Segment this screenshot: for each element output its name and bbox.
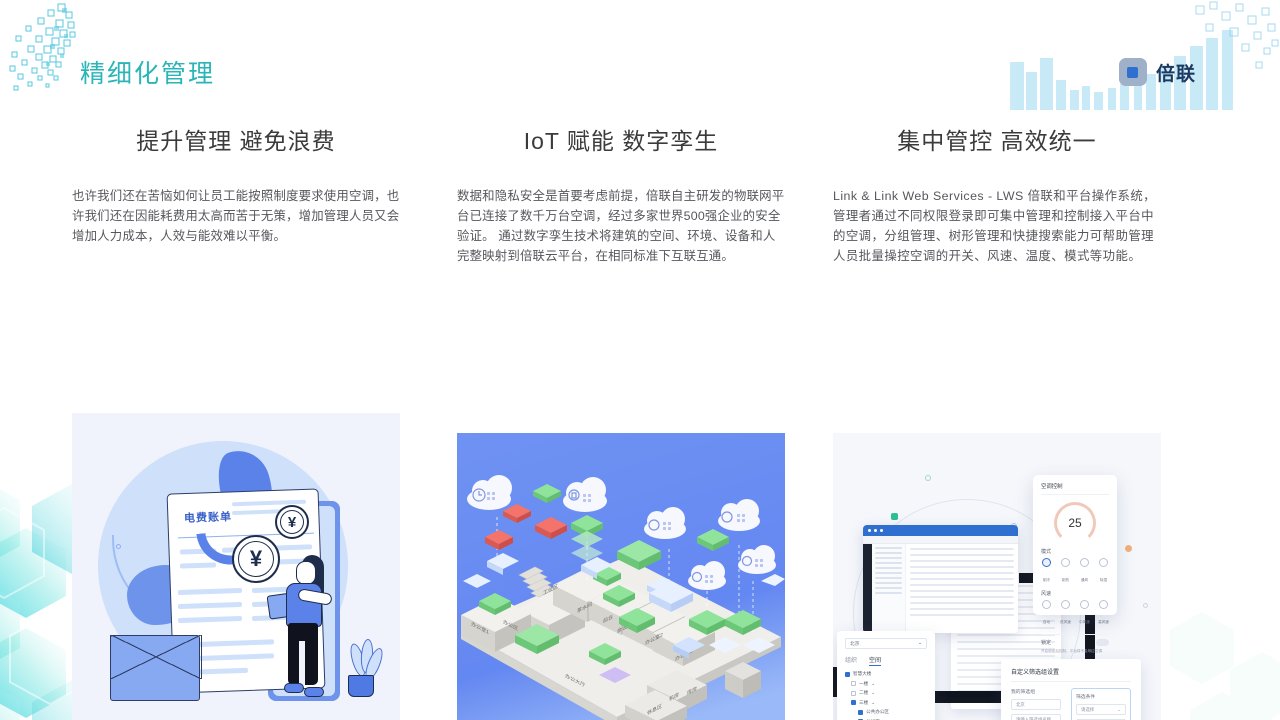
fan-option-medium[interactable]: 中风速: [1079, 600, 1090, 628]
mode-option-cool[interactable]: 制冷: [1041, 558, 1052, 586]
checkbox[interactable]: [851, 700, 856, 705]
lws-browser-window: [863, 525, 1018, 633]
mode-option-heat[interactable]: 制热: [1060, 558, 1071, 586]
lock-toggle[interactable]: [1096, 639, 1109, 646]
browser-titlebar: [863, 525, 1018, 536]
coin-large: ¥: [232, 535, 280, 583]
tab-space[interactable]: 空间: [869, 655, 881, 666]
person-shoe: [304, 687, 324, 697]
filter-group-name-input[interactable]: 请输入筛选组名称: [1011, 714, 1061, 720]
ac-control-title: 空调控制: [1041, 482, 1109, 495]
lws-dashboard-illustration: 空调控制 25 模式 制冷 制热 通风 除湿 风速 自动 低风速 中风速 高风速: [833, 433, 1161, 720]
electricity-bill-illustration: 电费账单 ¥ ¥: [72, 413, 400, 720]
column-centralized-control: 集中管控 高效统一 Link & Link Web Services - LWS…: [833, 110, 1161, 592]
lock-tip: 开启锁定后控制，平台将不会响应空调: [1041, 649, 1109, 654]
lock-label: 锁定: [1041, 639, 1051, 646]
mode-options: 制冷 制热 通风 除湿: [1041, 558, 1109, 586]
filter-left-column: 我的筛选组 北京 请输入筛选组名称 添加 +: [1011, 688, 1061, 720]
mode-section-label: 模式: [1041, 548, 1109, 555]
chevron-down-icon: ⌄: [918, 641, 922, 646]
isometric-digital-twin-illustration: 办公室1 办公区 工位区 茶水间 前台 会议室 办公室2 办公室3 办公大厅 机…: [457, 433, 785, 720]
mode-option-fan[interactable]: 通风: [1079, 558, 1090, 586]
decorative-dot: [925, 475, 931, 481]
brand-name: 倍联: [1156, 59, 1196, 86]
temperature-value: 25: [1068, 516, 1081, 530]
tree-node[interactable]: 二楼⌄: [845, 690, 927, 696]
page-title: 精细化管理: [80, 54, 215, 90]
column-improve-management: 提升管理 避免浪费 也许我们还在苦恼如何让员工能按照制度要求使用空调，也许我们还…: [72, 110, 400, 572]
device-table-pane[interactable]: [906, 544, 1018, 633]
custom-filter-panel[interactable]: 自定义筛选组设置 我的筛选组 北京 请输入筛选组名称 添加 + 筛选条件 请选择…: [1001, 659, 1141, 720]
column-heading: 提升管理 避免浪费: [72, 122, 400, 156]
browser-address-bar[interactable]: [863, 536, 1018, 544]
region-select[interactable]: 北京 ⌄: [845, 638, 927, 649]
sun-icon: [1061, 558, 1070, 567]
auto-icon: [1042, 600, 1051, 609]
rounded-square-logo-icon: [1119, 58, 1147, 86]
filter-panel-title: 自定义筛选组设置: [1011, 667, 1131, 682]
ac-control-card[interactable]: 空调控制 25 模式 制冷 制热 通风 除湿 风速 自动 低风速 中风速 高风速: [1033, 475, 1117, 615]
column-heading: 集中管控 高效统一: [833, 122, 1161, 156]
high-fan-icon: [1099, 600, 1108, 609]
chevron-down-icon: ⌄: [871, 690, 875, 696]
fan-icon: [1080, 558, 1089, 567]
mode-option-dry[interactable]: 除湿: [1098, 558, 1109, 586]
fan-section-label: 风速: [1041, 590, 1109, 597]
browser-content: [863, 544, 1018, 633]
app-sidebar[interactable]: [863, 544, 872, 633]
filter-condition-select-1[interactable]: 请选择⌄: [1076, 704, 1126, 715]
checkbox[interactable]: [845, 672, 850, 677]
space-tree-pane[interactable]: [872, 544, 906, 633]
chevron-down-icon: ⌄: [871, 681, 875, 687]
chevron-down-icon: ⌄: [1117, 707, 1121, 713]
decorative-dot: [891, 513, 898, 520]
bill-title: 电费账单: [184, 508, 233, 526]
envelope-icon: [110, 635, 200, 701]
fan-option-high[interactable]: 高风速: [1098, 600, 1109, 628]
filter-left-heading: 我的筛选组: [1011, 688, 1061, 695]
chevron-down-icon: ⌄: [871, 700, 875, 706]
isometric-building-scene: 办公室1 办公区 工位区 茶水间 前台 会议室 办公室2 办公室3 办公大厅 机…: [457, 433, 785, 720]
temperature-gauge[interactable]: 25: [1054, 502, 1096, 544]
tree-node[interactable]: 公共办公区: [845, 709, 927, 715]
fan-option-low[interactable]: 低风速: [1060, 600, 1071, 628]
tree-node[interactable]: 智慧大楼: [845, 671, 927, 677]
tree-node[interactable]: 一楼⌄: [845, 681, 927, 687]
filter-right-heading: 筛选条件: [1076, 693, 1126, 700]
person-legs: [288, 623, 318, 685]
tab-organization[interactable]: 组织: [845, 655, 857, 666]
lock-row: 锁定: [1041, 634, 1109, 646]
page-header: 精细化管理 倍联: [0, 0, 1280, 110]
column-iot-digital-twin: IoT 赋能 数字孪生 数据和隐私安全是首要考虑前提，倍联自主研发的物联网平台已…: [457, 110, 785, 592]
column-body-text: Link & Link Web Services - LWS 倍联和平台操作系统…: [833, 186, 1161, 266]
column-body-text: 也许我们还在苦恼如何让员工能按照制度要求使用空调，也许我们还在因能耗费用太高而苦…: [72, 186, 400, 246]
space-selector-panel[interactable]: 北京 ⌄ 组织 空间 智慧大楼 一楼⌄ 二楼⌄ 三楼⌄ 公共办公区 总经室 会议…: [837, 631, 935, 720]
filter-right-column: 筛选条件 请选择⌄ 请选择⌄ 参数值 添加 +: [1071, 688, 1131, 720]
column-heading: IoT 赋能 数字孪生: [457, 122, 785, 156]
filter-columns: 我的筛选组 北京 请输入筛选组名称 添加 + 筛选条件 请选择⌄ 请选择⌄ 参数…: [1011, 688, 1131, 720]
medium-fan-icon: [1080, 600, 1089, 609]
decorative-dot: [1143, 603, 1148, 608]
checkbox[interactable]: [858, 710, 863, 715]
fan-options: 自动 低风速 中风速 高风速: [1041, 600, 1109, 628]
person-head: [296, 561, 316, 585]
person-shoe: [284, 683, 304, 693]
checkbox[interactable]: [851, 681, 856, 686]
fan-option-auto[interactable]: 自动: [1041, 600, 1052, 628]
plant-pot: [348, 675, 374, 697]
drop-icon: [1099, 558, 1108, 567]
low-fan-icon: [1061, 600, 1070, 609]
region-select-value: 北京: [850, 640, 860, 647]
checkbox[interactable]: [851, 691, 856, 696]
filter-group-field[interactable]: 北京: [1011, 699, 1061, 710]
decorative-dot: [1125, 545, 1132, 552]
column-body-text: 数据和隐私安全是首要考虑前提，倍联自主研发的物联网平台已连接了数千万台空调，经过…: [457, 186, 785, 266]
tree-tabs: 组织 空间: [845, 655, 927, 666]
brand-logo: 倍联: [1119, 58, 1196, 86]
snowflake-icon: [1042, 558, 1051, 567]
tree-node[interactable]: 三楼⌄: [845, 700, 927, 706]
